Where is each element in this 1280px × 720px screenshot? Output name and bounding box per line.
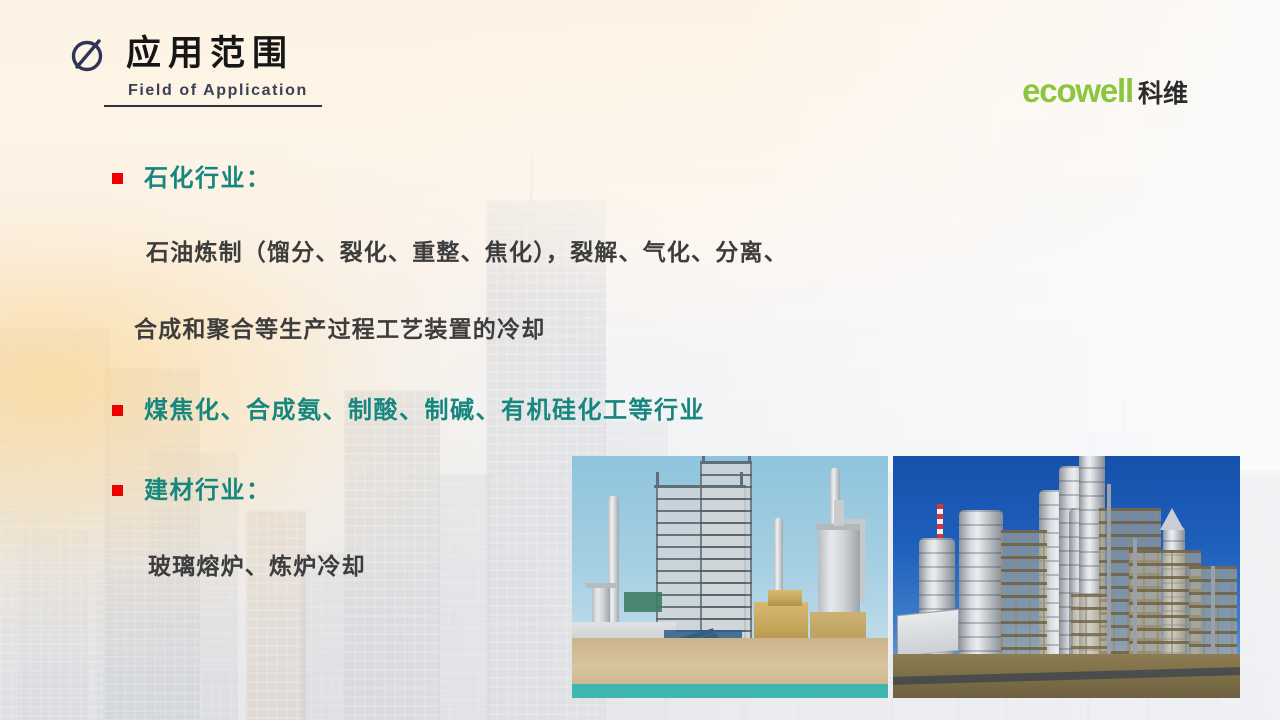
bullet-item-petrochemical: 石化行业： xyxy=(112,162,272,195)
title-divider xyxy=(104,105,322,107)
slide: 应用范围 Field of Application ecowell 科维 石化行… xyxy=(0,0,1280,720)
industrial-plant-silos-photo xyxy=(893,456,1240,698)
bullet-label: 煤焦化、合成氨、制酸、制碱、有机硅化工等行业 xyxy=(144,394,705,427)
body-line-2: 合成和聚合等生产过程工艺装置的冷却 xyxy=(134,313,545,345)
body-line-3: 玻璃熔炉、炼炉冷却 xyxy=(148,550,366,582)
brand-logo: ecowell 科维 xyxy=(1022,74,1188,107)
bullet-label: 建材行业： xyxy=(144,474,272,507)
bullet-item-building-materials: 建材行业： xyxy=(112,474,272,507)
logo-wordmark: ecowell xyxy=(1022,74,1133,107)
logo-chinese-name: 科维 xyxy=(1138,82,1188,107)
title-row: 应用范围 xyxy=(66,30,486,78)
bullet-item-coking-chemicals: 煤焦化、合成氨、制酸、制碱、有机硅化工等行业 xyxy=(112,394,705,427)
background-right-fade xyxy=(720,0,1280,470)
page-title: 应用范围 xyxy=(126,32,294,76)
diameter-symbol-icon xyxy=(66,30,110,78)
petrochemical-refinery-photo xyxy=(572,456,888,698)
bullet-label: 石化行业： xyxy=(144,162,272,195)
bullet-square-icon xyxy=(112,405,123,416)
photo-group xyxy=(572,456,1240,698)
body-line-1: 石油炼制（馏分、裂化、重整、焦化），裂解、气化、分离、 xyxy=(146,236,788,268)
page-subtitle: Field of Application xyxy=(128,82,486,100)
slide-header: 应用范围 Field of Application xyxy=(66,30,486,107)
bullet-square-icon xyxy=(112,173,123,184)
bullet-square-icon xyxy=(112,485,123,496)
